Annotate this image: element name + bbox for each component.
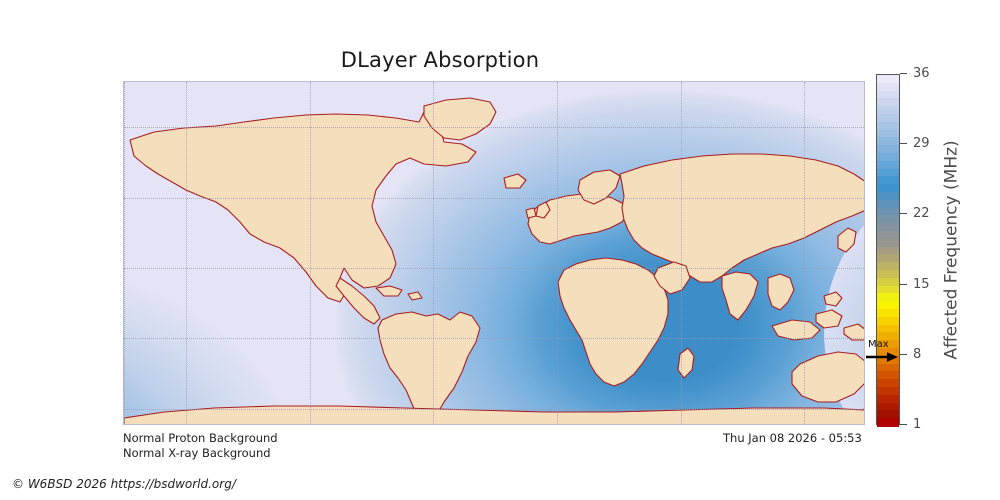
colorbar-tick-label: 15 (913, 276, 930, 293)
world-map-svg (124, 82, 864, 424)
colorbar-tick-mark (900, 213, 907, 214)
timestamp-label: Thu Jan 08 2026 - 05:53 (723, 431, 862, 446)
map-canvas (124, 82, 864, 424)
colorbar-tick-mark (900, 354, 907, 355)
world-map-axes[interactable] (123, 81, 865, 425)
coastline-ireland (526, 208, 536, 218)
proton-background-note: Normal Proton Background (123, 431, 278, 446)
page-title: DLayer Absorption (0, 48, 880, 72)
colorbar-tick-mark (900, 424, 907, 425)
background-conditions-notes: Normal Proton Background Normal X-ray Ba… (123, 431, 278, 461)
colorbar-tick-label: 22 (913, 205, 930, 222)
colorbar-tick-label: 29 (913, 135, 930, 152)
copyright-credit: © W6BSD 2026 https://bsdworld.org/ (12, 477, 236, 491)
colorbar-tick-mark (900, 284, 907, 285)
colorbar-axis-label: Affected Frequency (MHz) (940, 74, 964, 425)
colorbar-tick-mark (900, 73, 907, 74)
colorbar-tick-label: 8 (913, 346, 921, 363)
colorbar-tick-label: 36 (913, 65, 930, 82)
xray-background-note: Normal X-ray Background (123, 446, 278, 461)
colorbar-tick-mark (900, 143, 907, 144)
colorbar-tick-label: 1 (913, 416, 921, 433)
colorbar-axis-label-text: Affected Frequency (MHz) (942, 140, 962, 359)
dlayer-absorption-figure: DLayer Absorption (0, 0, 1000, 500)
colorbar-tick-group: 1815222936 (876, 74, 996, 425)
